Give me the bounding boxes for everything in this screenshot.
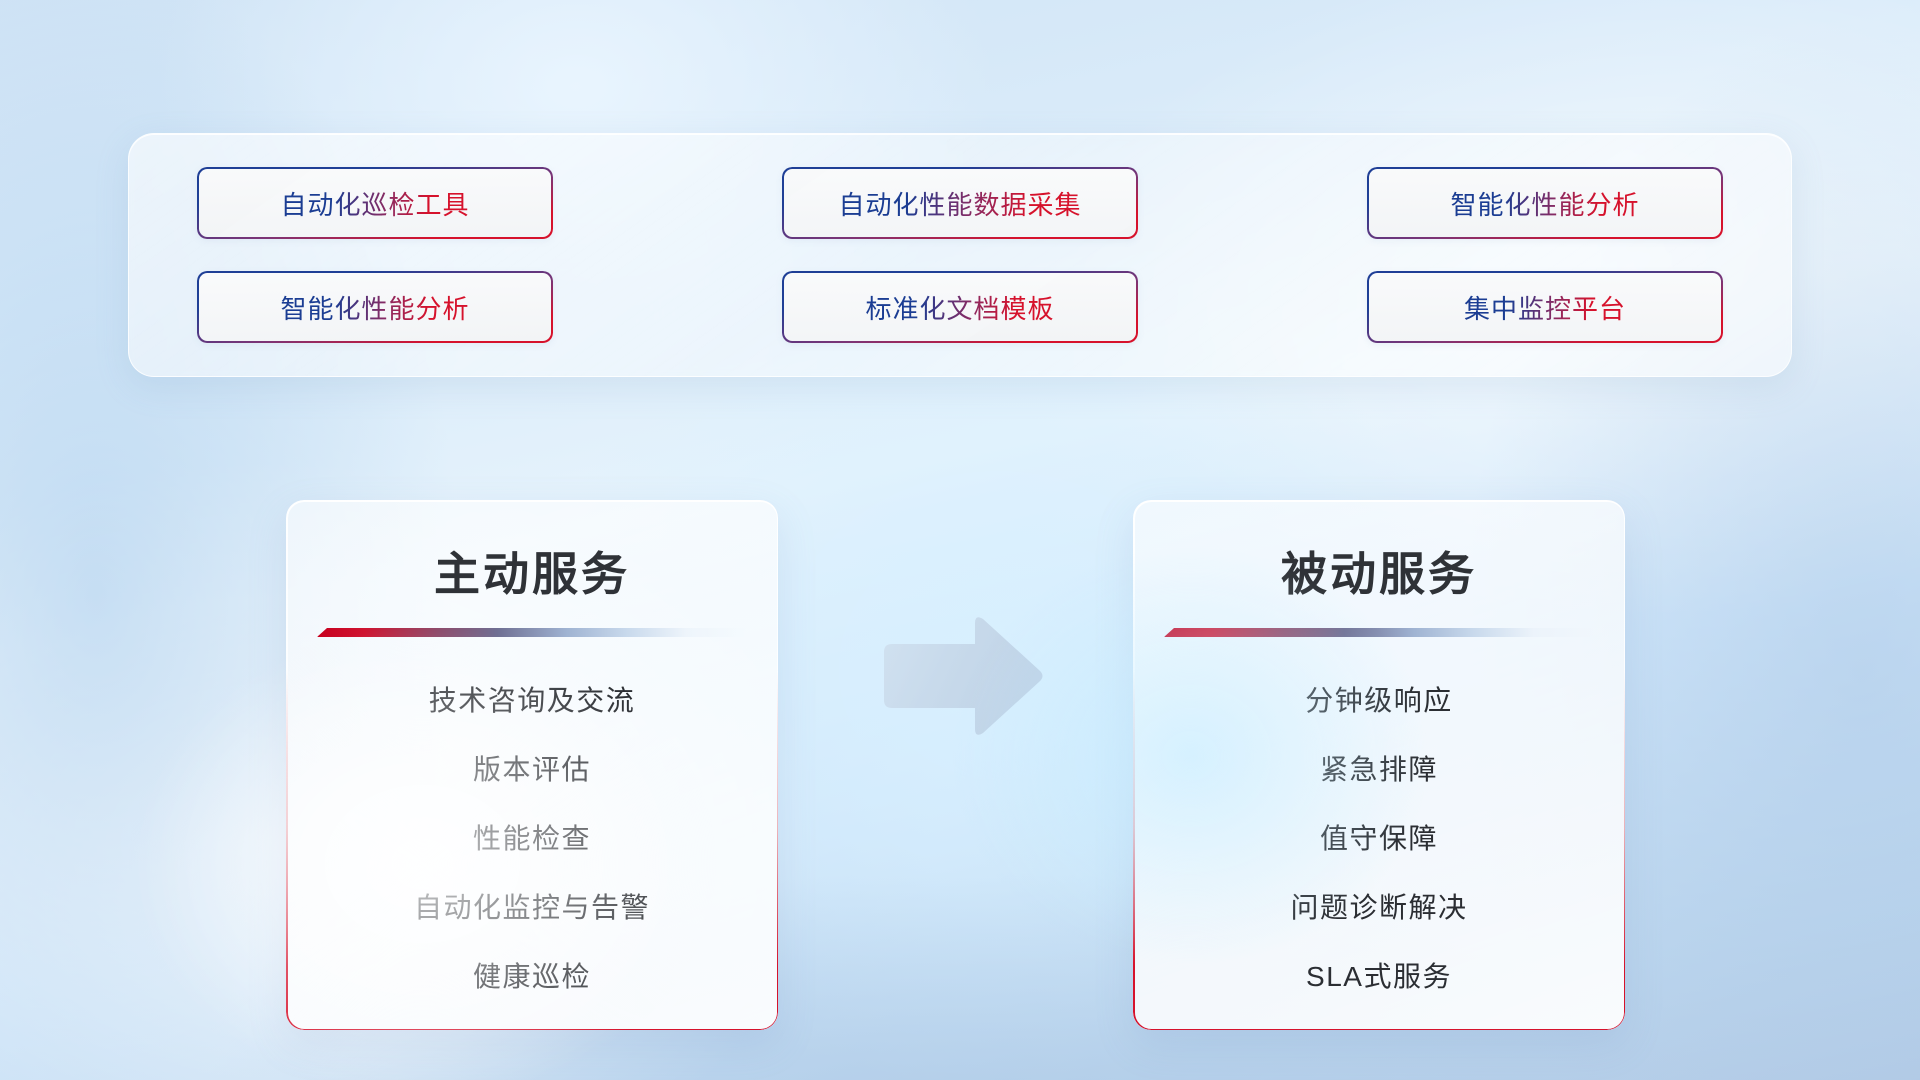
capability-pill[interactable]: 自动化性能数据采集	[782, 167, 1138, 239]
capability-pill-label: 自动化巡检工具	[280, 185, 469, 222]
service-card-reactive: 被动服务 分钟级响应 紧急排障 值守保障 问题诊断解决 SLA式服务	[1133, 500, 1625, 1030]
capability-pill-label: 智能化性能分析	[280, 289, 469, 326]
card-title: 主动服务	[286, 538, 778, 604]
card-item: 紧急排障	[1133, 748, 1625, 788]
card-item: 问题诊断解决	[1133, 886, 1625, 926]
card-item: 值守保障	[1133, 817, 1625, 857]
service-card-proactive: 主动服务 技术咨询及交流 版本评估 性能检查 自动化监控与告警 健康巡检	[286, 500, 778, 1030]
capability-pill-label: 集中监控平台	[1464, 289, 1626, 326]
card-title: 被动服务	[1133, 538, 1625, 604]
card-item: 分钟级响应	[1133, 679, 1625, 719]
arrow-right-icon	[876, 612, 1046, 740]
slide-canvas: 自动化巡检工具 自动化性能数据采集 智能化性能分析 智能化性能分析 标准化文档模…	[0, 0, 1920, 1080]
capability-pill[interactable]: 集中监控平台	[1367, 271, 1723, 343]
capability-pill[interactable]: 标准化文档模板	[782, 271, 1138, 343]
card-item: 自动化监控与告警	[286, 886, 778, 926]
capability-pill-label: 智能化性能分析	[1450, 185, 1639, 222]
capability-pill[interactable]: 智能化性能分析	[197, 271, 553, 343]
title-accent-rule	[317, 628, 747, 637]
card-item: SLA式服务	[1133, 955, 1625, 995]
capability-pill-label: 标准化文档模板	[865, 289, 1054, 326]
title-accent-rule	[1164, 628, 1594, 637]
capability-row-1: 自动化巡检工具 自动化性能数据采集 智能化性能分析	[197, 167, 1723, 239]
capability-row-2: 智能化性能分析 标准化文档模板 集中监控平台	[197, 271, 1723, 343]
card-item: 技术咨询及交流	[286, 679, 778, 719]
card-item: 性能检查	[286, 817, 778, 857]
capability-pill[interactable]: 自动化巡检工具	[197, 167, 553, 239]
capability-panel: 自动化巡检工具 自动化性能数据采集 智能化性能分析 智能化性能分析 标准化文档模…	[128, 133, 1792, 377]
capability-pill[interactable]: 智能化性能分析	[1367, 167, 1723, 239]
card-item: 版本评估	[286, 748, 778, 788]
card-item-list: 技术咨询及交流 版本评估 性能检查 自动化监控与告警 健康巡检	[286, 679, 778, 995]
card-item-list: 分钟级响应 紧急排障 值守保障 问题诊断解决 SLA式服务	[1133, 679, 1625, 995]
card-item: 健康巡检	[286, 955, 778, 995]
capability-pill-label: 自动化性能数据采集	[838, 185, 1081, 222]
